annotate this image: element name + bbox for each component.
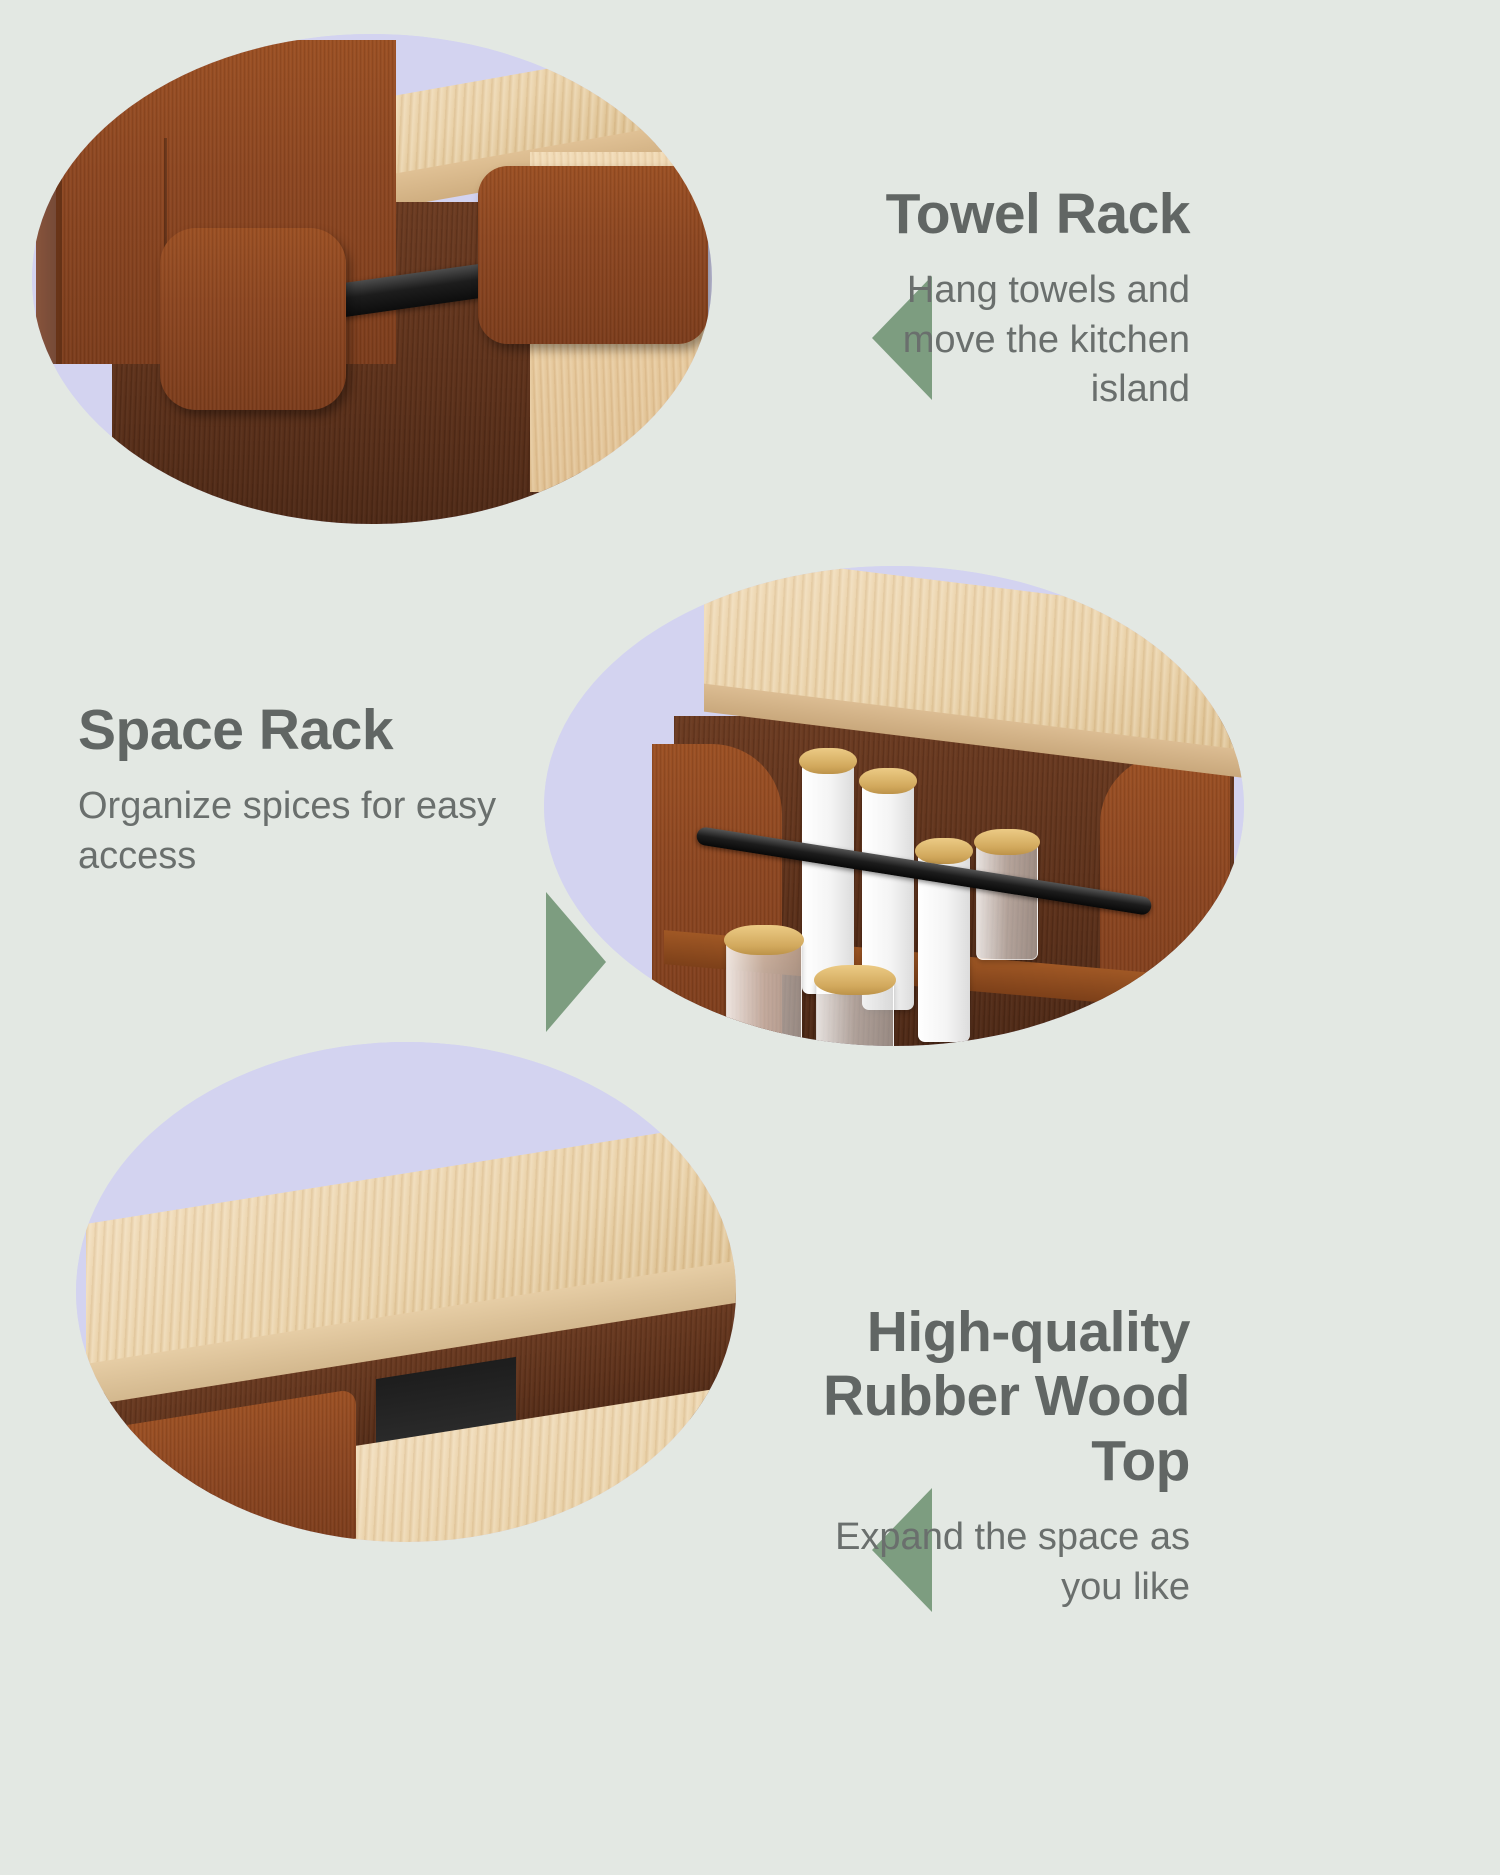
jar-lid-bamboo (859, 768, 917, 794)
towel-rack-text-block: Towel Rack Hang towels and move the kitc… (810, 182, 1190, 415)
rubber-wood-top-text-block: High-quality Rubber Wood Top Expand the … (790, 1300, 1190, 1612)
towel-bar-bracket-left (160, 228, 346, 410)
jar-lid-bamboo (799, 748, 857, 774)
space-rack-text-block: Space Rack Organize spices for easy acce… (78, 698, 508, 881)
towel-rack-title: Towel Rack (810, 182, 1190, 246)
jar-lid-bamboo (724, 925, 804, 955)
towel-bar-bracket-right (478, 166, 708, 344)
space-rack-description: Organize spices for easy access (78, 782, 508, 881)
spice-jar-white-1 (802, 762, 854, 994)
rubber-wood-top-photo (76, 1042, 736, 1542)
space-rack-title: Space Rack (78, 698, 508, 762)
spice-jar-glass-2 (816, 978, 894, 1046)
jar-contents-grain (729, 1005, 799, 1046)
cabinet-stile (36, 34, 62, 364)
towel-rack-photo (32, 34, 712, 524)
jar-lid-bamboo (814, 965, 896, 995)
rubber-wood-top-title: High-quality Rubber Wood Top (790, 1300, 1190, 1493)
spice-jar-glass-1 (726, 938, 802, 1046)
spice-jar-glass-3 (976, 842, 1038, 960)
jar-lid-bamboo (915, 838, 973, 864)
jar-lid-bamboo (974, 829, 1040, 855)
infographic-page: Towel Rack Hang towels and move the kitc… (0, 0, 1500, 1875)
towel-rack-description: Hang towels and move the kitchen island (810, 266, 1190, 414)
space-rack-photo (544, 566, 1244, 1046)
rubber-wood-top-description: Expand the space as you like (790, 1513, 1190, 1612)
pointer-arrow-right-icon (546, 892, 606, 1032)
